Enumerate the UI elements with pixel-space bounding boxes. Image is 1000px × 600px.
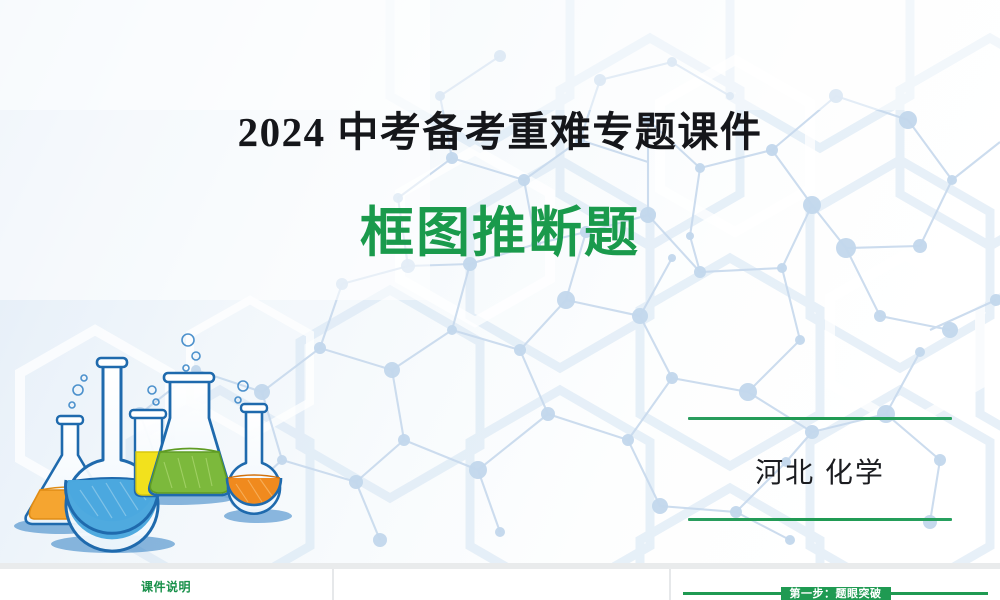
footer-step-chip-group: 第一步：题眼突破 (671, 587, 1000, 600)
footer-step-chip-label[interactable]: 第一步：题眼突破 (781, 587, 891, 600)
footer-tab-courseware-note[interactable]: 课件说明 (0, 569, 332, 600)
subject-rule-bottom (688, 518, 952, 521)
footer-chip-rule-right (884, 592, 988, 595)
subject-rule-top (688, 417, 952, 420)
slide-main-title: 2024 中考备考重难专题课件 (0, 98, 1000, 158)
presentation-slide: 2024 中考备考重难专题课件 框图推断题 河北 化学 课件说明 第一步：题眼突… (0, 0, 1000, 600)
subject-label: 河北 化学 (688, 451, 952, 491)
footer-tab-step-one[interactable]: 第一步：题眼突破 (671, 569, 1000, 600)
footer-chip-rule-left (683, 592, 787, 595)
footer-tab-middle[interactable] (334, 569, 669, 600)
chemistry-flasks-illustration-icon (0, 330, 320, 563)
footer-tab-label: 课件说明 (0, 578, 332, 595)
slide-subtitle: 框图推断题 (0, 188, 1000, 267)
